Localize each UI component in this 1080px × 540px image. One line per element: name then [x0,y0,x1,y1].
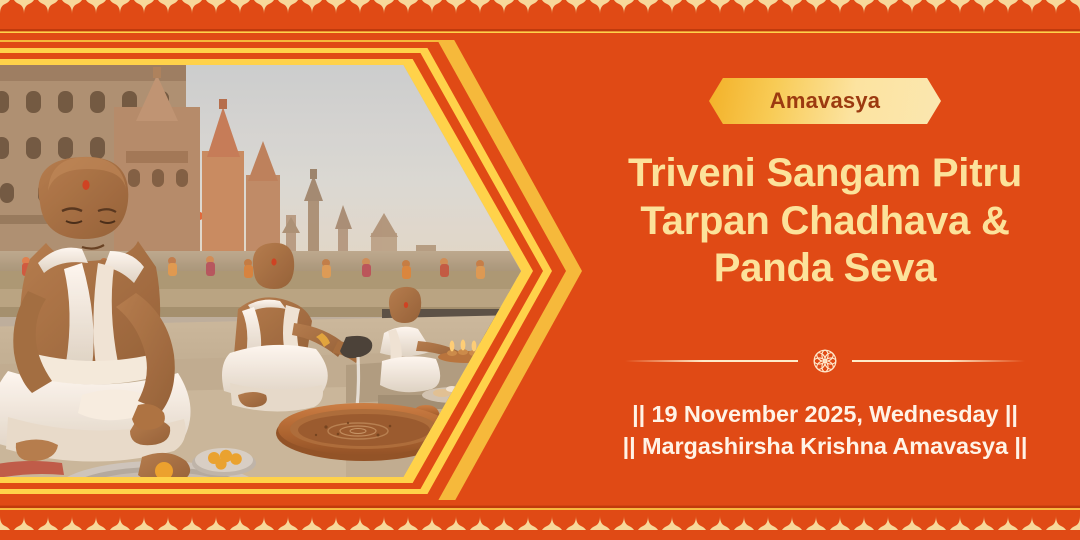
title-line-1: Triveni Sangam Pitru [590,150,1060,198]
content-column: Amavasya Triveni Sangam Pitru Tarpan Cha… [570,40,1080,500]
hero-photo-frame [0,34,582,508]
event-dates: || 19 November 2025, Wednesday || || Mar… [623,398,1028,463]
title-line-3: Panda Seva [590,245,1060,293]
floral-rosette-icon [810,346,840,376]
title-line-2: Tarpan Chadhava & [590,198,1060,246]
date-line-2: || Margashirsha Krishna Amavasya || [623,430,1028,462]
date-line-1: || 19 November 2025, Wednesday || [623,398,1028,430]
amavasya-badge: Amavasya [709,78,941,124]
divider-rule-right [852,360,1025,362]
page-title: Triveni Sangam Pitru Tarpan Chadhava & P… [590,150,1060,293]
badge-label: Amavasya [770,88,880,114]
divider-rule-left [625,360,798,362]
ornamental-divider [625,344,1025,378]
poster-canvas: Amavasya Triveni Sangam Pitru Tarpan Cha… [0,0,1080,540]
